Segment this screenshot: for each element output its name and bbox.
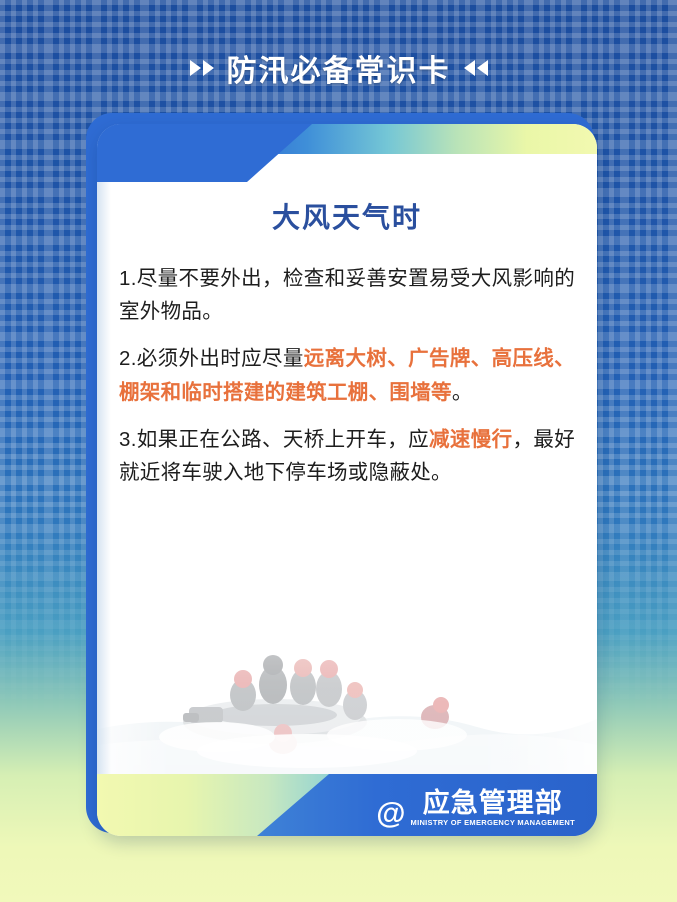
ministry-name-cn: 应急管理部: [423, 789, 563, 817]
at-symbol-icon: @: [376, 799, 405, 829]
card-body: 大风天气时 1.尽量不要外出，检查和妥善安置易受大风影响的室外物品。 2.必须外…: [97, 154, 597, 774]
header: 防汛必备常识卡: [0, 46, 677, 90]
section-heading: 大风天气时: [119, 196, 575, 236]
tip-2-text-a: 2.必须外出时应尽量: [119, 347, 304, 370]
tip-2-text-b: 。: [452, 381, 473, 404]
double-triangle-right-icon: [190, 60, 214, 76]
tip-3-highlight: 减速慢行: [429, 428, 512, 451]
ministry-name-en: MINISTRY OF EMERGENCY MANAGEMENT: [411, 819, 575, 827]
double-triangle-left-icon: [464, 60, 488, 76]
ministry-logo: @ 应急管理部 MINISTRY OF EMERGENCY MANAGEMENT: [376, 789, 575, 827]
tip-1-text: 1.尽量不要外出，检查和妥善安置易受大风影响的室外物品。: [119, 267, 575, 323]
poster-root: 防汛必备常识卡: [0, 0, 677, 902]
tip-item-1: 1.尽量不要外出，检查和妥善安置易受大风影响的室外物品。: [119, 262, 575, 328]
tip-item-2: 2.必须外出时应尽量远离大树、广告牌、高压线、棚架和临时搭建的建筑工棚、围墙等。: [119, 342, 575, 408]
page-title: 防汛必备常识卡: [227, 46, 451, 90]
tip-item-3: 3.如果正在公路、天桥上开车，应减速慢行，最好就近将车驶入地下停车场或隐蔽处。: [119, 423, 575, 489]
tip-3-text-a: 3.如果正在公路、天桥上开车，应: [119, 428, 429, 451]
info-card: 大风天气时 1.尽量不要外出，检查和妥善安置易受大风影响的室外物品。 2.必须外…: [97, 124, 597, 836]
